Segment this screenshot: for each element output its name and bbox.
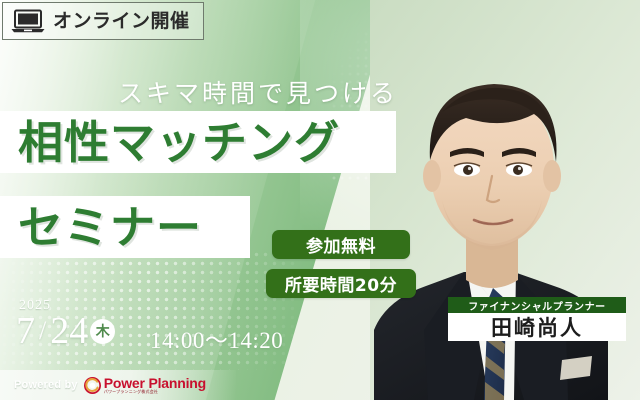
pill-duration: 所要時間20分 <box>266 269 416 298</box>
event-time: 14:00〜14:20 <box>150 321 283 355</box>
event-month: 7 <box>16 312 35 350</box>
seminar-banner: オンライン開催 スキマ時間で見つける 相性マッチング セミナー 参加無料 所要時… <box>0 0 640 400</box>
subtitle: スキマ時間で見つける <box>118 74 398 110</box>
event-date: 7 / 24 木 <box>16 312 115 350</box>
power-planning-name: Power Planning <box>104 376 206 390</box>
power-planning-logo: Power Planning パワープランニング株式会社 <box>84 376 206 394</box>
title-band-primary: 相性マッチング <box>0 111 396 173</box>
date-separator: / <box>35 318 50 344</box>
power-planning-swirl-icon <box>84 377 101 394</box>
powered-by-label: Powered by <box>14 379 78 391</box>
speaker-name: 田崎尚人 <box>448 313 626 341</box>
pill-free-entry: 参加無料 <box>272 230 410 259</box>
online-event-label: オンライン開催 <box>53 12 190 31</box>
footer: Powered by Power Planning パワープランニング株式会社 <box>0 370 236 400</box>
event-day-of-week: 木 <box>90 319 115 344</box>
title-line-1: 相性マッチング <box>18 120 340 165</box>
online-event-badge: オンライン開催 <box>2 2 204 40</box>
title-line-2: セミナー <box>18 205 202 250</box>
power-planning-wordmark: Power Planning パワープランニング株式会社 <box>104 376 206 394</box>
speaker-role: ファイナンシャルプランナー <box>448 297 626 313</box>
event-day: 24 <box>50 312 88 350</box>
laptop-icon <box>11 9 45 33</box>
power-planning-subtext: パワープランニング株式会社 <box>104 390 206 394</box>
title-band-secondary: セミナー <box>0 196 250 258</box>
